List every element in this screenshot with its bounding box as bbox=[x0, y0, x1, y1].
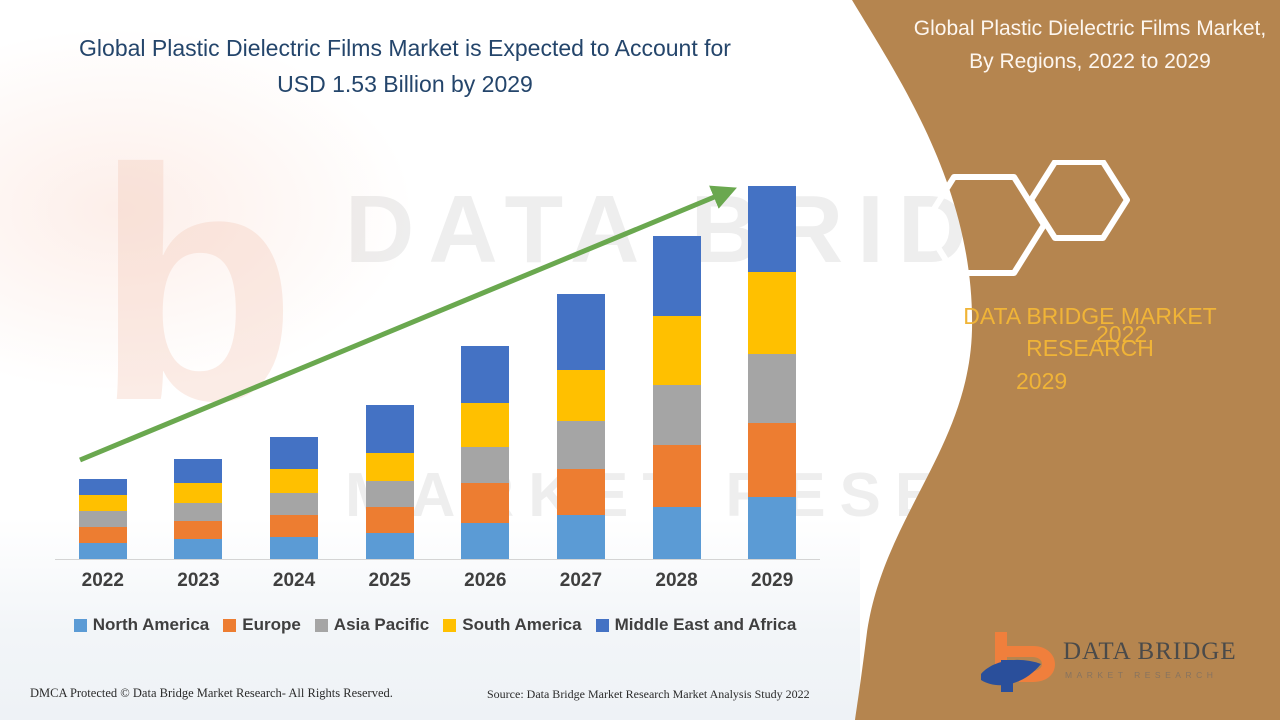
bar-segment bbox=[653, 507, 701, 559]
bar-segment bbox=[461, 523, 509, 559]
bar-segment bbox=[366, 533, 414, 559]
x-axis-label-2029: 2029 bbox=[748, 570, 796, 592]
x-axis-label-2023: 2023 bbox=[174, 570, 222, 592]
legend-label: Middle East and Africa bbox=[615, 615, 797, 635]
bar-segment bbox=[366, 453, 414, 481]
legend-item[interactable]: South America bbox=[443, 615, 581, 635]
hexagon-2029-label: 2029 bbox=[1016, 368, 1067, 395]
bar-column-2028 bbox=[653, 236, 701, 559]
bar-segment bbox=[174, 483, 222, 503]
legend-item[interactable]: Europe bbox=[223, 615, 301, 635]
bar-column-2026 bbox=[461, 346, 509, 559]
bar-segment bbox=[79, 511, 127, 527]
bar-segment bbox=[270, 437, 318, 469]
bar-segment bbox=[653, 316, 701, 386]
bar-column-2023 bbox=[174, 459, 222, 559]
x-axis-label-2025: 2025 bbox=[366, 570, 414, 592]
x-axis-label-2022: 2022 bbox=[79, 570, 127, 592]
legend-swatch-icon bbox=[315, 619, 328, 632]
bar-segment bbox=[748, 497, 796, 559]
hexagon-badges: 2022 2029 bbox=[900, 160, 1280, 290]
bar-segment bbox=[174, 503, 222, 521]
hexagon-2029-outline bbox=[924, 177, 1044, 273]
hexagon-2022-outline bbox=[1031, 162, 1127, 238]
legend-item[interactable]: Middle East and Africa bbox=[596, 615, 797, 635]
legend-label: South America bbox=[462, 615, 581, 635]
bar-columns bbox=[55, 150, 820, 559]
bar-segment bbox=[748, 423, 796, 497]
legend-label: North America bbox=[93, 615, 210, 635]
bar-segment bbox=[79, 543, 127, 559]
logo-tagline: MARKET RESEARCH bbox=[1065, 670, 1217, 680]
x-axis-labels: 20222023202420252026202720282029 bbox=[55, 570, 820, 592]
source-note: Source: Data Bridge Market Research Mark… bbox=[487, 687, 810, 702]
bar-segment bbox=[270, 469, 318, 493]
brand-name: DATA BRIDGE MARKET RESEARCH bbox=[910, 300, 1270, 364]
x-axis-label-2027: 2027 bbox=[557, 570, 605, 592]
x-axis-label-2024: 2024 bbox=[270, 570, 318, 592]
x-axis-line bbox=[55, 559, 820, 560]
bar-segment bbox=[79, 495, 127, 511]
bar-segment bbox=[270, 537, 318, 559]
bar-segment bbox=[174, 521, 222, 539]
bar-segment bbox=[748, 354, 796, 424]
bar-column-2024 bbox=[270, 437, 318, 559]
bar-column-2029 bbox=[748, 186, 796, 559]
data-bridge-logo: DATA BRIDGE MARKET RESEARCH bbox=[975, 628, 1215, 704]
x-axis-label-2028: 2028 bbox=[653, 570, 701, 592]
logo-mark-icon bbox=[975, 630, 1065, 700]
bar-column-2025 bbox=[366, 405, 414, 559]
panel-title: Global Plastic Dielectric Films Market, … bbox=[910, 12, 1270, 78]
chart-legend: North AmericaEuropeAsia PacificSouth Ame… bbox=[40, 615, 830, 635]
bar-segment bbox=[557, 515, 605, 559]
legend-item[interactable]: North America bbox=[74, 615, 210, 635]
x-axis-label-2026: 2026 bbox=[461, 570, 509, 592]
bar-segment bbox=[557, 370, 605, 422]
legend-swatch-icon bbox=[74, 619, 87, 632]
bar-segment bbox=[748, 186, 796, 272]
bar-segment bbox=[557, 294, 605, 370]
bar-segment bbox=[270, 493, 318, 515]
bar-segment bbox=[174, 539, 222, 559]
bar-chart bbox=[55, 150, 820, 560]
bar-segment bbox=[557, 421, 605, 469]
bar-segment bbox=[366, 507, 414, 533]
bar-column-2022 bbox=[79, 479, 127, 559]
legend-swatch-icon bbox=[596, 619, 609, 632]
bar-segment bbox=[79, 527, 127, 543]
bar-segment bbox=[270, 515, 318, 537]
bar-segment bbox=[461, 483, 509, 523]
bar-segment bbox=[653, 236, 701, 316]
legend-item[interactable]: Asia Pacific bbox=[315, 615, 429, 635]
bar-segment bbox=[366, 481, 414, 507]
brand-panel-content: Global Plastic Dielectric Films Market, … bbox=[900, 0, 1280, 720]
legend-label: Asia Pacific bbox=[334, 615, 429, 635]
bar-segment bbox=[653, 385, 701, 445]
page-title: Global Plastic Dielectric Films Market i… bbox=[55, 30, 755, 102]
bar-segment bbox=[653, 445, 701, 507]
dmca-notice: DMCA Protected © Data Bridge Market Rese… bbox=[30, 686, 393, 701]
bar-segment bbox=[174, 459, 222, 483]
bar-segment bbox=[366, 405, 414, 453]
bar-segment bbox=[79, 479, 127, 495]
bar-segment bbox=[461, 447, 509, 483]
legend-label: Europe bbox=[242, 615, 301, 635]
bar-segment bbox=[461, 346, 509, 404]
legend-swatch-icon bbox=[223, 619, 236, 632]
infographic-page: b DATA BRIDGE MARKET RESEARCH Global Pla… bbox=[0, 0, 1280, 720]
legend-swatch-icon bbox=[443, 619, 456, 632]
bar-segment bbox=[557, 469, 605, 515]
bar-column-2027 bbox=[557, 294, 605, 559]
bar-segment bbox=[461, 403, 509, 447]
logo-wordmark: DATA BRIDGE bbox=[1063, 638, 1237, 666]
bar-segment bbox=[748, 272, 796, 354]
